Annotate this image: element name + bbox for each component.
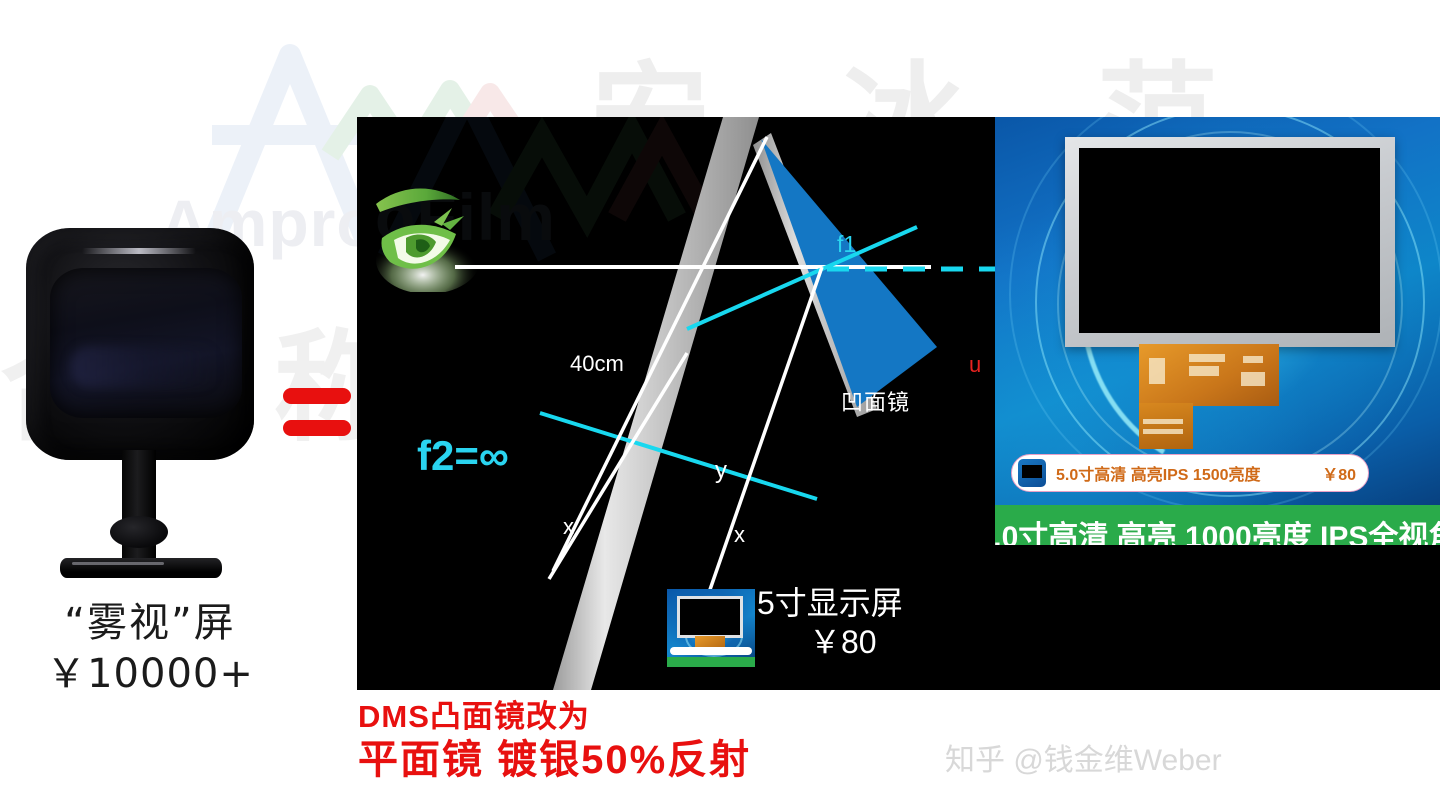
bottom-annotation-line2: 平面镜 镀银50%反射 bbox=[358, 738, 751, 783]
product-badge-price: ￥80 bbox=[1322, 461, 1356, 485]
product-badge: 5.0寸高清 高亮IPS 1500亮度 ￥80 bbox=[1011, 454, 1369, 492]
bottom-annotation-line1: DMS凸面镜改为 bbox=[358, 700, 751, 735]
ray-to-display bbox=[705, 267, 822, 604]
equals-bar-top bbox=[283, 388, 351, 404]
product-photo: 5.0寸高清 高亮IPS 1500亮度 ￥80 5.0寸高清 高亮 1000亮度… bbox=[995, 117, 1440, 545]
device-stand-joint bbox=[110, 516, 168, 548]
device-base-highlight bbox=[72, 562, 164, 565]
cyan-ray-lower bbox=[540, 413, 817, 499]
fog-vision-display-device bbox=[18, 228, 284, 598]
device-screen bbox=[50, 268, 242, 418]
left-caption-line2: ￥10000+ bbox=[0, 651, 300, 698]
bottom-annotation: DMS凸面镜改为 平面镜 镀银50%反射 bbox=[358, 700, 751, 783]
flex-cable bbox=[1139, 344, 1279, 406]
product-badge-title: 5.0寸高清 高亮IPS 1500亮度 bbox=[1056, 461, 1261, 485]
device-top-slot bbox=[82, 248, 196, 254]
equals-sign-icon bbox=[283, 388, 351, 446]
device-body bbox=[26, 228, 254, 460]
lcd-panel-frame bbox=[1065, 137, 1395, 347]
ray-y bbox=[553, 137, 767, 571]
flex-cable-tail bbox=[1139, 403, 1193, 449]
left-caption: “雾视”屏 ￥10000+ bbox=[0, 600, 300, 698]
equals-bar-bottom bbox=[283, 420, 351, 436]
device-screen-glint bbox=[70, 346, 220, 388]
product-banner-text: 5.0寸高清 高亮 1000亮度 IPS全视角 bbox=[995, 512, 1440, 545]
display-thumbnail bbox=[667, 589, 755, 667]
lcd-panel-face bbox=[1079, 148, 1380, 333]
badge-thumbnail-icon bbox=[1018, 459, 1046, 487]
zhihu-watermark: 知乎 @钱金维Weber bbox=[945, 735, 1222, 779]
screenshot-root: AmproFilm 安 冰 范 合 称 知乎 @钱金维Weber “雾视”屏 ￥… bbox=[0, 0, 1440, 810]
device-stand-base bbox=[60, 558, 222, 578]
product-banner: 5.0寸高清 高亮 1000亮度 IPS全视角 bbox=[995, 505, 1440, 545]
left-caption-line1: “雾视”屏 bbox=[0, 600, 300, 647]
